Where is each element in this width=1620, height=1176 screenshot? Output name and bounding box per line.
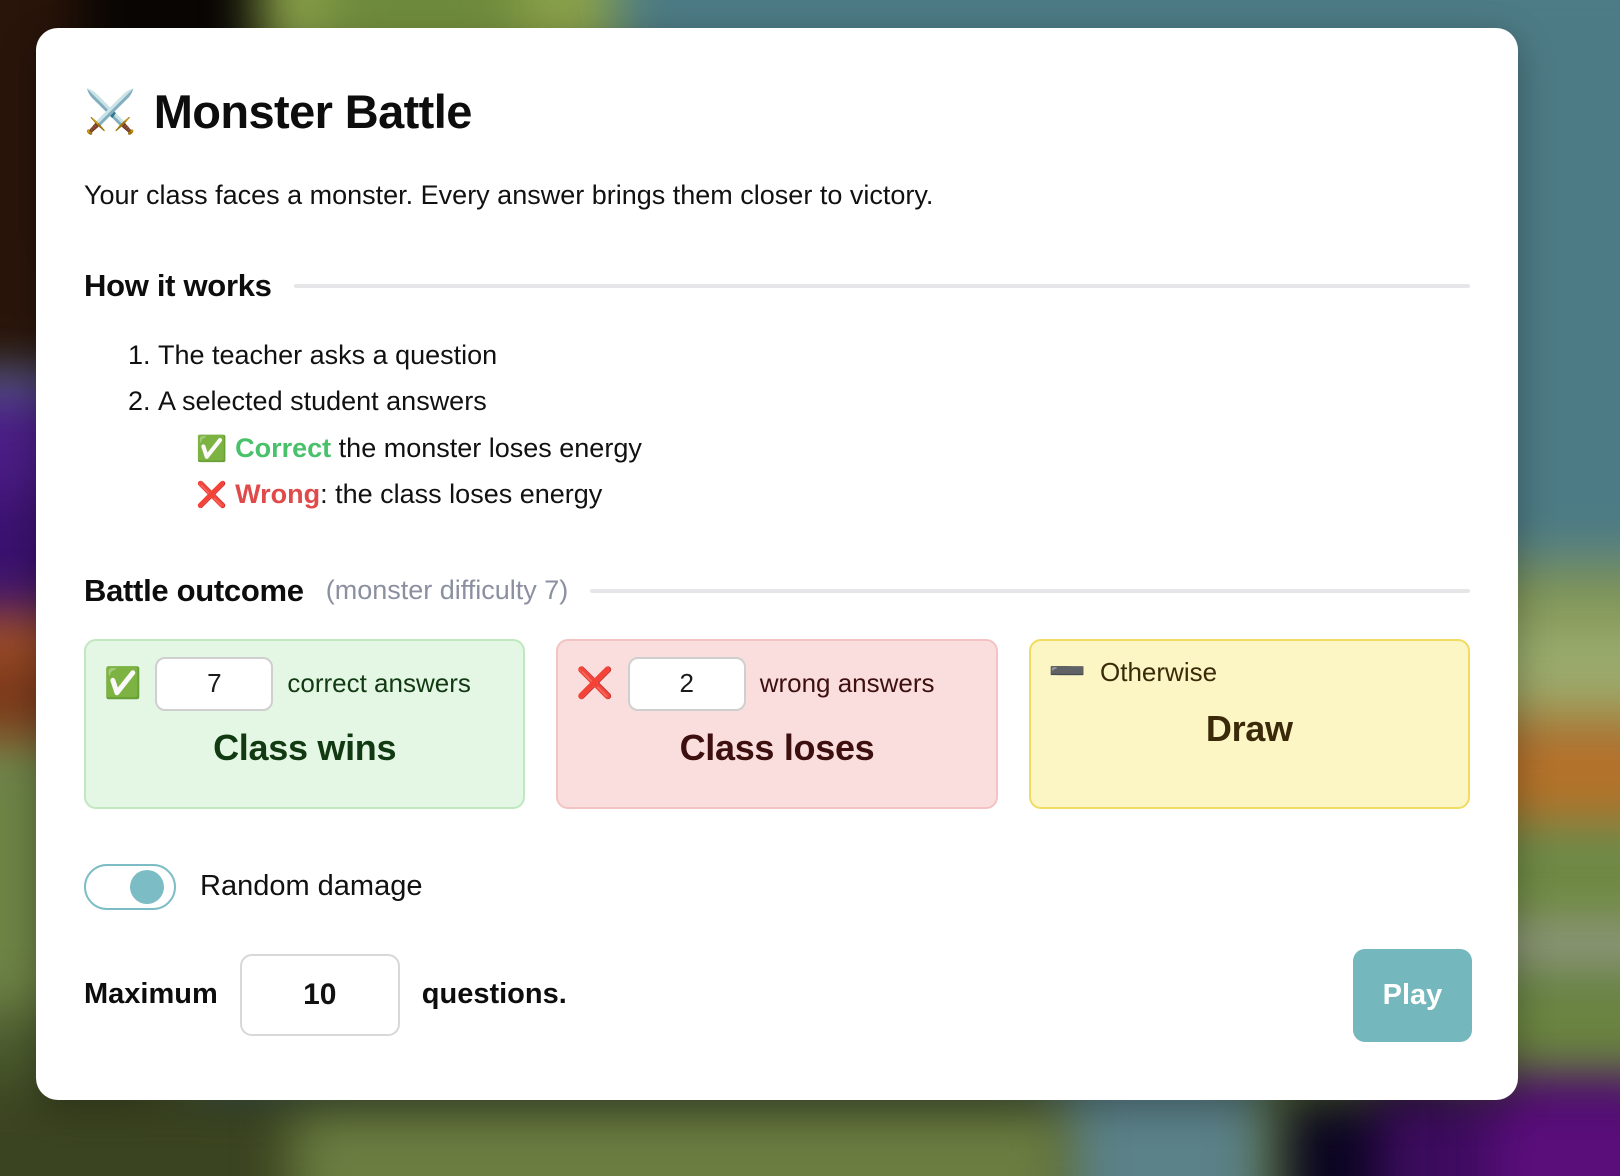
card-top-row: ✅ 7 correct answers <box>104 657 505 711</box>
correct-rest: the monster loses energy <box>331 433 642 463</box>
cross-mark-icon: ❌ <box>576 669 613 699</box>
max-questions-row: Maximum 10 questions. <box>84 954 1470 1036</box>
correct-answers-label: correct answers <box>287 668 471 699</box>
bg-purple-bottom-2 <box>1490 1094 1620 1176</box>
battle-outcome-title: Battle outcome <box>84 573 304 609</box>
outcome-card-win: ✅ 7 correct answers Class wins <box>84 639 525 809</box>
cross-mark-icon: ❌ <box>196 481 227 509</box>
dialog-title: ⚔️ Monster Battle <box>84 86 1470 138</box>
otherwise-label: Otherwise <box>1100 657 1217 688</box>
random-damage-label: Random damage <box>200 870 422 903</box>
dialog-subtitle: Your class faces a monster. Every answer… <box>84 178 1470 213</box>
outcome-wrong-line: ❌Wrong: the class loses energy <box>158 471 1470 517</box>
outcome-card-lose: ❌ 2 wrong answers Class loses <box>556 639 997 809</box>
how-it-works-title: How it works <box>84 268 272 304</box>
crossed-swords-icon: ⚔️ <box>84 91 136 133</box>
monster-battle-dialog: ⚔️ Monster Battle Your class faces a mon… <box>36 28 1518 1100</box>
play-button[interactable]: Play <box>1353 949 1472 1042</box>
outcome-correct-line: ✅Correct the monster loses energy <box>158 425 1470 471</box>
outcome-card-draw: ➖ Otherwise Draw <box>1029 639 1470 809</box>
card-top-row: ➖ Otherwise <box>1049 657 1450 688</box>
dialog-title-text: Monster Battle <box>154 86 472 138</box>
step-item: A selected student answers <box>158 378 1470 424</box>
verdict-class-loses: Class loses <box>576 727 977 769</box>
how-it-works-steps: The teacher asks a question A selected s… <box>84 332 1470 518</box>
check-mark-icon: ✅ <box>104 669 141 699</box>
card-top-row: ❌ 2 wrong answers <box>576 657 977 711</box>
verdict-draw: Draw <box>1049 708 1450 750</box>
questions-label: questions. <box>422 978 567 1011</box>
heavy-minus-icon: ➖ <box>1049 657 1086 687</box>
monster-difficulty-note: (monster difficulty 7) <box>326 575 569 606</box>
check-mark-icon: ✅ <box>196 435 227 463</box>
bg-bottom-green-2 <box>292 1105 1070 1176</box>
battle-outcome-header: Battle outcome (monster difficulty 7) <box>84 573 1470 609</box>
wrong-answers-label: wrong answers <box>760 668 935 699</box>
maximum-label: Maximum <box>84 978 218 1011</box>
random-damage-toggle[interactable] <box>84 864 176 910</box>
section-divider <box>590 589 1470 593</box>
step-item: The teacher asks a question <box>158 332 1470 378</box>
outcome-cards: ✅ 7 correct answers Class wins ❌ 2 wrong… <box>84 639 1470 809</box>
correct-keyword: Correct <box>235 433 331 463</box>
verdict-class-wins: Class wins <box>104 727 505 769</box>
max-questions-input[interactable]: 10 <box>240 954 400 1036</box>
random-damage-row: Random damage <box>84 864 1470 910</box>
wrong-keyword: Wrong <box>235 479 320 509</box>
how-it-works-header: How it works <box>84 268 1470 304</box>
wrong-answers-input[interactable]: 2 <box>628 657 746 711</box>
wrong-rest: : the class loses energy <box>320 479 602 509</box>
toggle-knob <box>130 870 164 904</box>
correct-answers-input[interactable]: 7 <box>155 657 273 711</box>
section-divider <box>294 284 1470 288</box>
